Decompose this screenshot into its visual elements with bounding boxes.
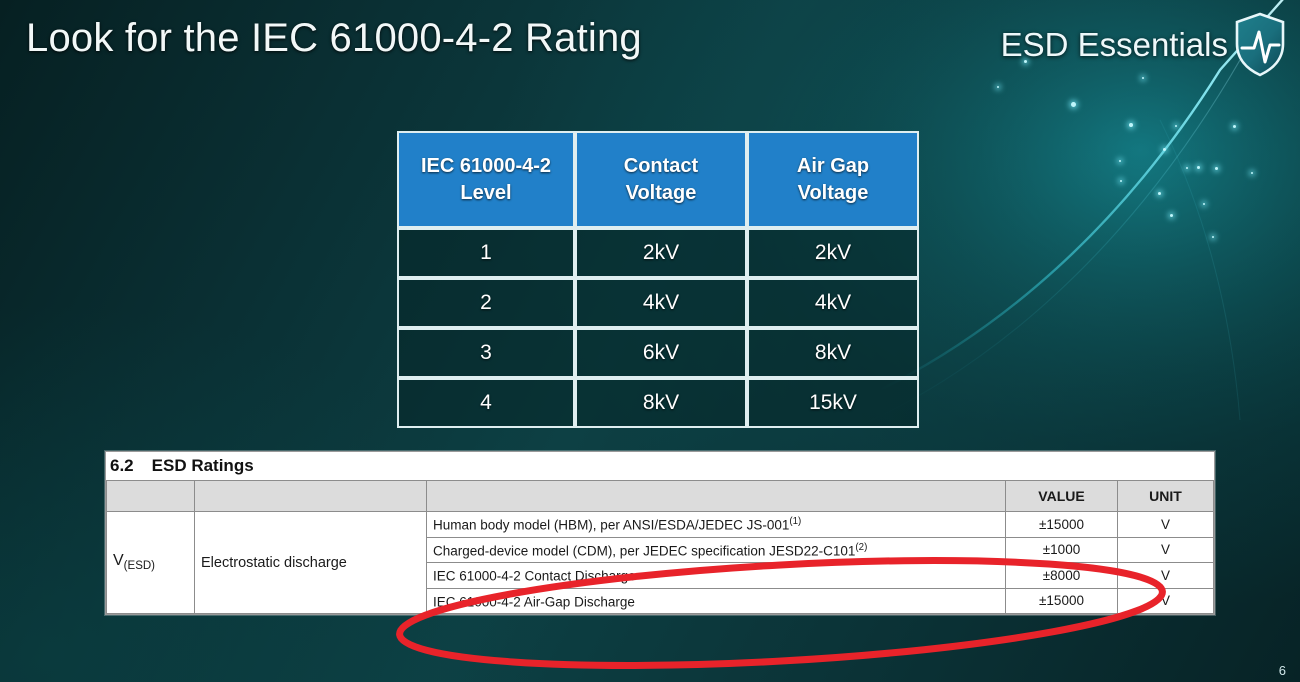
datasheet-excerpt: 6.2ESD Ratings VALUE UNIT V(ESD) Electro…: [105, 451, 1215, 615]
cell-contact: 8kV: [575, 378, 747, 428]
cell-unit: V: [1118, 588, 1214, 614]
brand-lockup: ESD Essentials: [1001, 12, 1286, 78]
header-line: IEC 61000-4-2: [421, 155, 551, 177]
cell-unit: V: [1118, 537, 1214, 563]
cell-unit: V: [1118, 512, 1214, 538]
page-number: 6: [1279, 663, 1286, 678]
cell-airgap: 8kV: [747, 328, 919, 378]
table-header-row: IEC 61000-4-2 Level Contact Voltage Air …: [397, 131, 919, 228]
cell-level: 2: [397, 278, 575, 328]
table-row: 1 2kV 2kV: [397, 228, 919, 278]
table-row: V(ESD) Electrostatic discharge Human bod…: [107, 512, 1214, 538]
datasheet-header-row: VALUE UNIT: [107, 481, 1214, 512]
section-title-text: ESD Ratings: [152, 456, 254, 475]
column-header-unit: UNIT: [1118, 481, 1214, 512]
cell-unit: V: [1118, 563, 1214, 589]
cell-value: ±1000: [1006, 537, 1118, 563]
iec-level-table: IEC 61000-4-2 Level Contact Voltage Air …: [397, 131, 919, 428]
column-header-blank-condition: [427, 481, 1006, 512]
cell-contact: 4kV: [575, 278, 747, 328]
condition-text: Human body model (HBM), per ANSI/ESDA/JE…: [433, 518, 789, 533]
datasheet-section-title: 6.2ESD Ratings: [106, 452, 1214, 480]
cell-contact: 2kV: [575, 228, 747, 278]
cell-airgap: 2kV: [747, 228, 919, 278]
column-header-level: IEC 61000-4-2 Level: [397, 131, 575, 228]
table-row: 2 4kV 4kV: [397, 278, 919, 328]
cell-airgap: 15kV: [747, 378, 919, 428]
header-line: Contact: [624, 155, 698, 177]
cell-symbol: V(ESD): [107, 512, 195, 614]
condition-text: Charged-device model (CDM), per JEDEC sp…: [433, 543, 855, 558]
column-header-contact-voltage: Contact Voltage: [575, 131, 747, 228]
cell-value: ±15000: [1006, 512, 1118, 538]
page-title: Look for the IEC 61000-4-2 Rating: [26, 16, 642, 61]
cell-value: ±8000: [1006, 563, 1118, 589]
column-header-blank-symbol: [107, 481, 195, 512]
header-line: Voltage: [626, 182, 697, 204]
esd-ratings-table: VALUE UNIT V(ESD) Electrostatic discharg…: [106, 480, 1214, 614]
shield-pulse-icon: [1234, 12, 1286, 78]
slide-canvas: Look for the IEC 61000-4-2 Rating ESD Es…: [0, 0, 1300, 682]
header-line: Voltage: [798, 182, 869, 204]
cell-value: ±15000: [1006, 588, 1118, 614]
column-header-value: VALUE: [1006, 481, 1118, 512]
cell-level: 1: [397, 228, 575, 278]
condition-text: IEC 61000-4-2 Contact Discharge: [433, 569, 636, 584]
cell-level: 4: [397, 378, 575, 428]
table-row: 3 6kV 8kV: [397, 328, 919, 378]
symbol-text: V: [113, 552, 124, 569]
footnote-marker: (2): [855, 542, 867, 553]
cell-description: Electrostatic discharge: [195, 512, 427, 614]
cell-condition: IEC 61000-4-2 Contact Discharge: [427, 563, 1006, 589]
cell-condition: Charged-device model (CDM), per JEDEC sp…: [427, 537, 1006, 563]
condition-text: IEC 61000-4-2 Air-Gap Discharge: [433, 594, 635, 609]
header-line: Level: [460, 182, 511, 204]
cell-airgap: 4kV: [747, 278, 919, 328]
section-number: 6.2: [110, 456, 134, 475]
column-header-blank-description: [195, 481, 427, 512]
footnote-marker: (1): [789, 516, 801, 527]
cell-condition: Human body model (HBM), per ANSI/ESDA/JE…: [427, 512, 1006, 538]
brand-name: ESD Essentials: [1001, 26, 1228, 64]
cell-level: 3: [397, 328, 575, 378]
table-row: 4 8kV 15kV: [397, 378, 919, 428]
cell-condition: IEC 61000-4-2 Air-Gap Discharge: [427, 588, 1006, 614]
column-header-air-gap-voltage: Air Gap Voltage: [747, 131, 919, 228]
symbol-subscript: (ESD): [124, 561, 155, 573]
cell-contact: 6kV: [575, 328, 747, 378]
header-line: Air Gap: [797, 155, 869, 177]
